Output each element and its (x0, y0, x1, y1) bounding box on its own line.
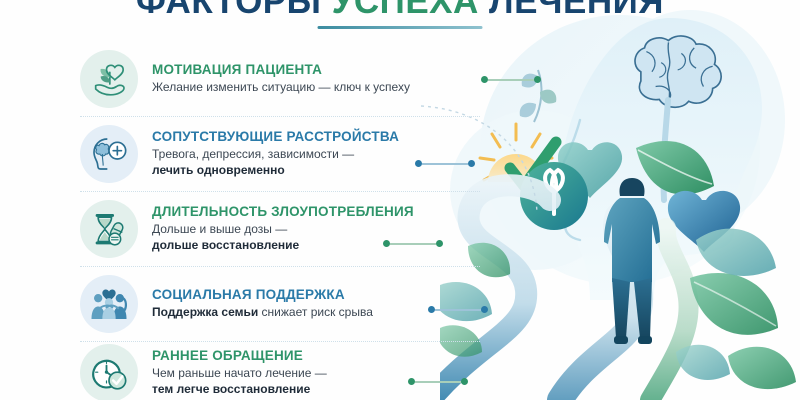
item-subtext-plain: Чем раньше начато лечение — (152, 366, 327, 380)
connector-line (383, 240, 443, 247)
item-heading: РАННЕЕ ОБРАЩЕНИЕ (152, 348, 480, 363)
connector-bar (488, 79, 534, 81)
connector-line (481, 76, 541, 83)
item-subtext-bold: лечить одновременно (152, 163, 285, 177)
connector-line (428, 306, 488, 313)
connector-dot (481, 306, 488, 313)
item-subtext-plain: Тревога, депрессия, зависимости — (152, 147, 354, 161)
item-text-block: РАННЕЕ ОБРАЩЕНИЕ Чем раньше начато лечен… (152, 348, 480, 398)
connector-dot (383, 240, 390, 247)
icon-badge (80, 200, 138, 258)
icon-badge (80, 50, 138, 108)
connector-bar (422, 163, 468, 165)
item-text-block: МОТИВАЦИЯ ПАЦИЕНТА Желание изменить ситу… (152, 62, 480, 96)
item-heading: СОПУТСТВУЮЩИЕ РАССТРОЙСТВА (152, 129, 480, 144)
icon-badge (80, 275, 138, 333)
connector-dot (534, 76, 541, 83)
connector-dot (461, 378, 468, 385)
item-subtext-plain: Желание изменить ситуацию — ключ к успех… (152, 80, 410, 94)
item-subtext-bold: тем легче восстановление (152, 382, 310, 396)
item-subtext-plain: снижает риск срыва (258, 305, 373, 319)
title-underline (318, 26, 483, 29)
item-subtext-plain: Дольше и выше дозы — (152, 222, 287, 236)
family-heart-icon (89, 284, 129, 324)
item-text-block: СОЦИАЛЬНАЯ ПОДДЕРЖКА Поддержка семьи сни… (152, 287, 480, 321)
list-item[interactable]: СОЦИАЛЬНАЯ ПОДДЕРЖКА Поддержка семьи сни… (80, 266, 480, 341)
connector-bar (415, 381, 461, 383)
head-brain-plus-icon (89, 134, 129, 174)
list-item[interactable]: РАННЕЕ ОБРАЩЕНИЕ Чем раньше начато лечен… (80, 341, 480, 400)
factors-list: МОТИВАЦИЯ ПАЦИЕНТА Желание изменить ситу… (80, 42, 480, 400)
item-heading: МОТИВАЦИЯ ПАЦИЕНТА (152, 62, 480, 77)
connector-dot (468, 160, 475, 167)
item-subtext: Дольше и выше дозы — дольше восстановлен… (152, 222, 480, 254)
list-item[interactable]: ДЛИТЕЛЬНОСТЬ ЗЛОУПОТРЕБЛЕНИЯ Дольше и вы… (80, 191, 480, 266)
title-part-3: ЛЕЧЕНИЯ (479, 0, 664, 21)
list-item[interactable]: МОТИВАЦИЯ ПАЦИЕНТА Желание изменить ситу… (80, 42, 480, 116)
connector-dot (436, 240, 443, 247)
connector-bar (390, 243, 436, 245)
connector-bar (435, 309, 481, 311)
icon-badge (80, 344, 138, 400)
connector-dot (481, 76, 488, 83)
item-subtext: Желание изменить ситуацию — ключ к успех… (152, 80, 480, 96)
clock-check-icon (89, 353, 129, 393)
item-heading: ДЛИТЕЛЬНОСТЬ ЗЛОУПОТРЕБЛЕНИЯ (152, 204, 480, 219)
list-item[interactable]: СОПУТСТВУЮЩИЕ РАССТРОЙСТВА Тревога, депр… (80, 116, 480, 191)
connector-dot (415, 160, 422, 167)
item-heading: СОЦИАЛЬНАЯ ПОДДЕРЖКА (152, 287, 480, 302)
title-part-2: УСПЕХА (332, 0, 479, 21)
item-subtext-bold: дольше восстановление (152, 238, 299, 252)
hand-plant-heart-icon (89, 59, 129, 99)
connector-dot (408, 378, 415, 385)
item-text-block: СОПУТСТВУЮЩИЕ РАССТРОЙСТВА Тревога, депр… (152, 129, 480, 179)
hourglass-pills-icon (89, 209, 129, 249)
title-part-1: ФАКТОРЫ (136, 0, 332, 21)
icon-badge (80, 125, 138, 183)
connector-line (408, 378, 468, 385)
connector-dot (428, 306, 435, 313)
item-subtext-bold: Поддержка семьи (152, 305, 258, 319)
connector-line (415, 160, 475, 167)
page-title: ФАКТОРЫ УСПЕХА ЛЕЧЕНИЯ (0, 0, 800, 21)
infographic-canvas: ФАКТОРЫ УСПЕХА ЛЕЧЕНИЯ МОТИВАЦИЯ ПАЦИЕНТ… (0, 0, 800, 400)
brain-icon (635, 36, 721, 107)
